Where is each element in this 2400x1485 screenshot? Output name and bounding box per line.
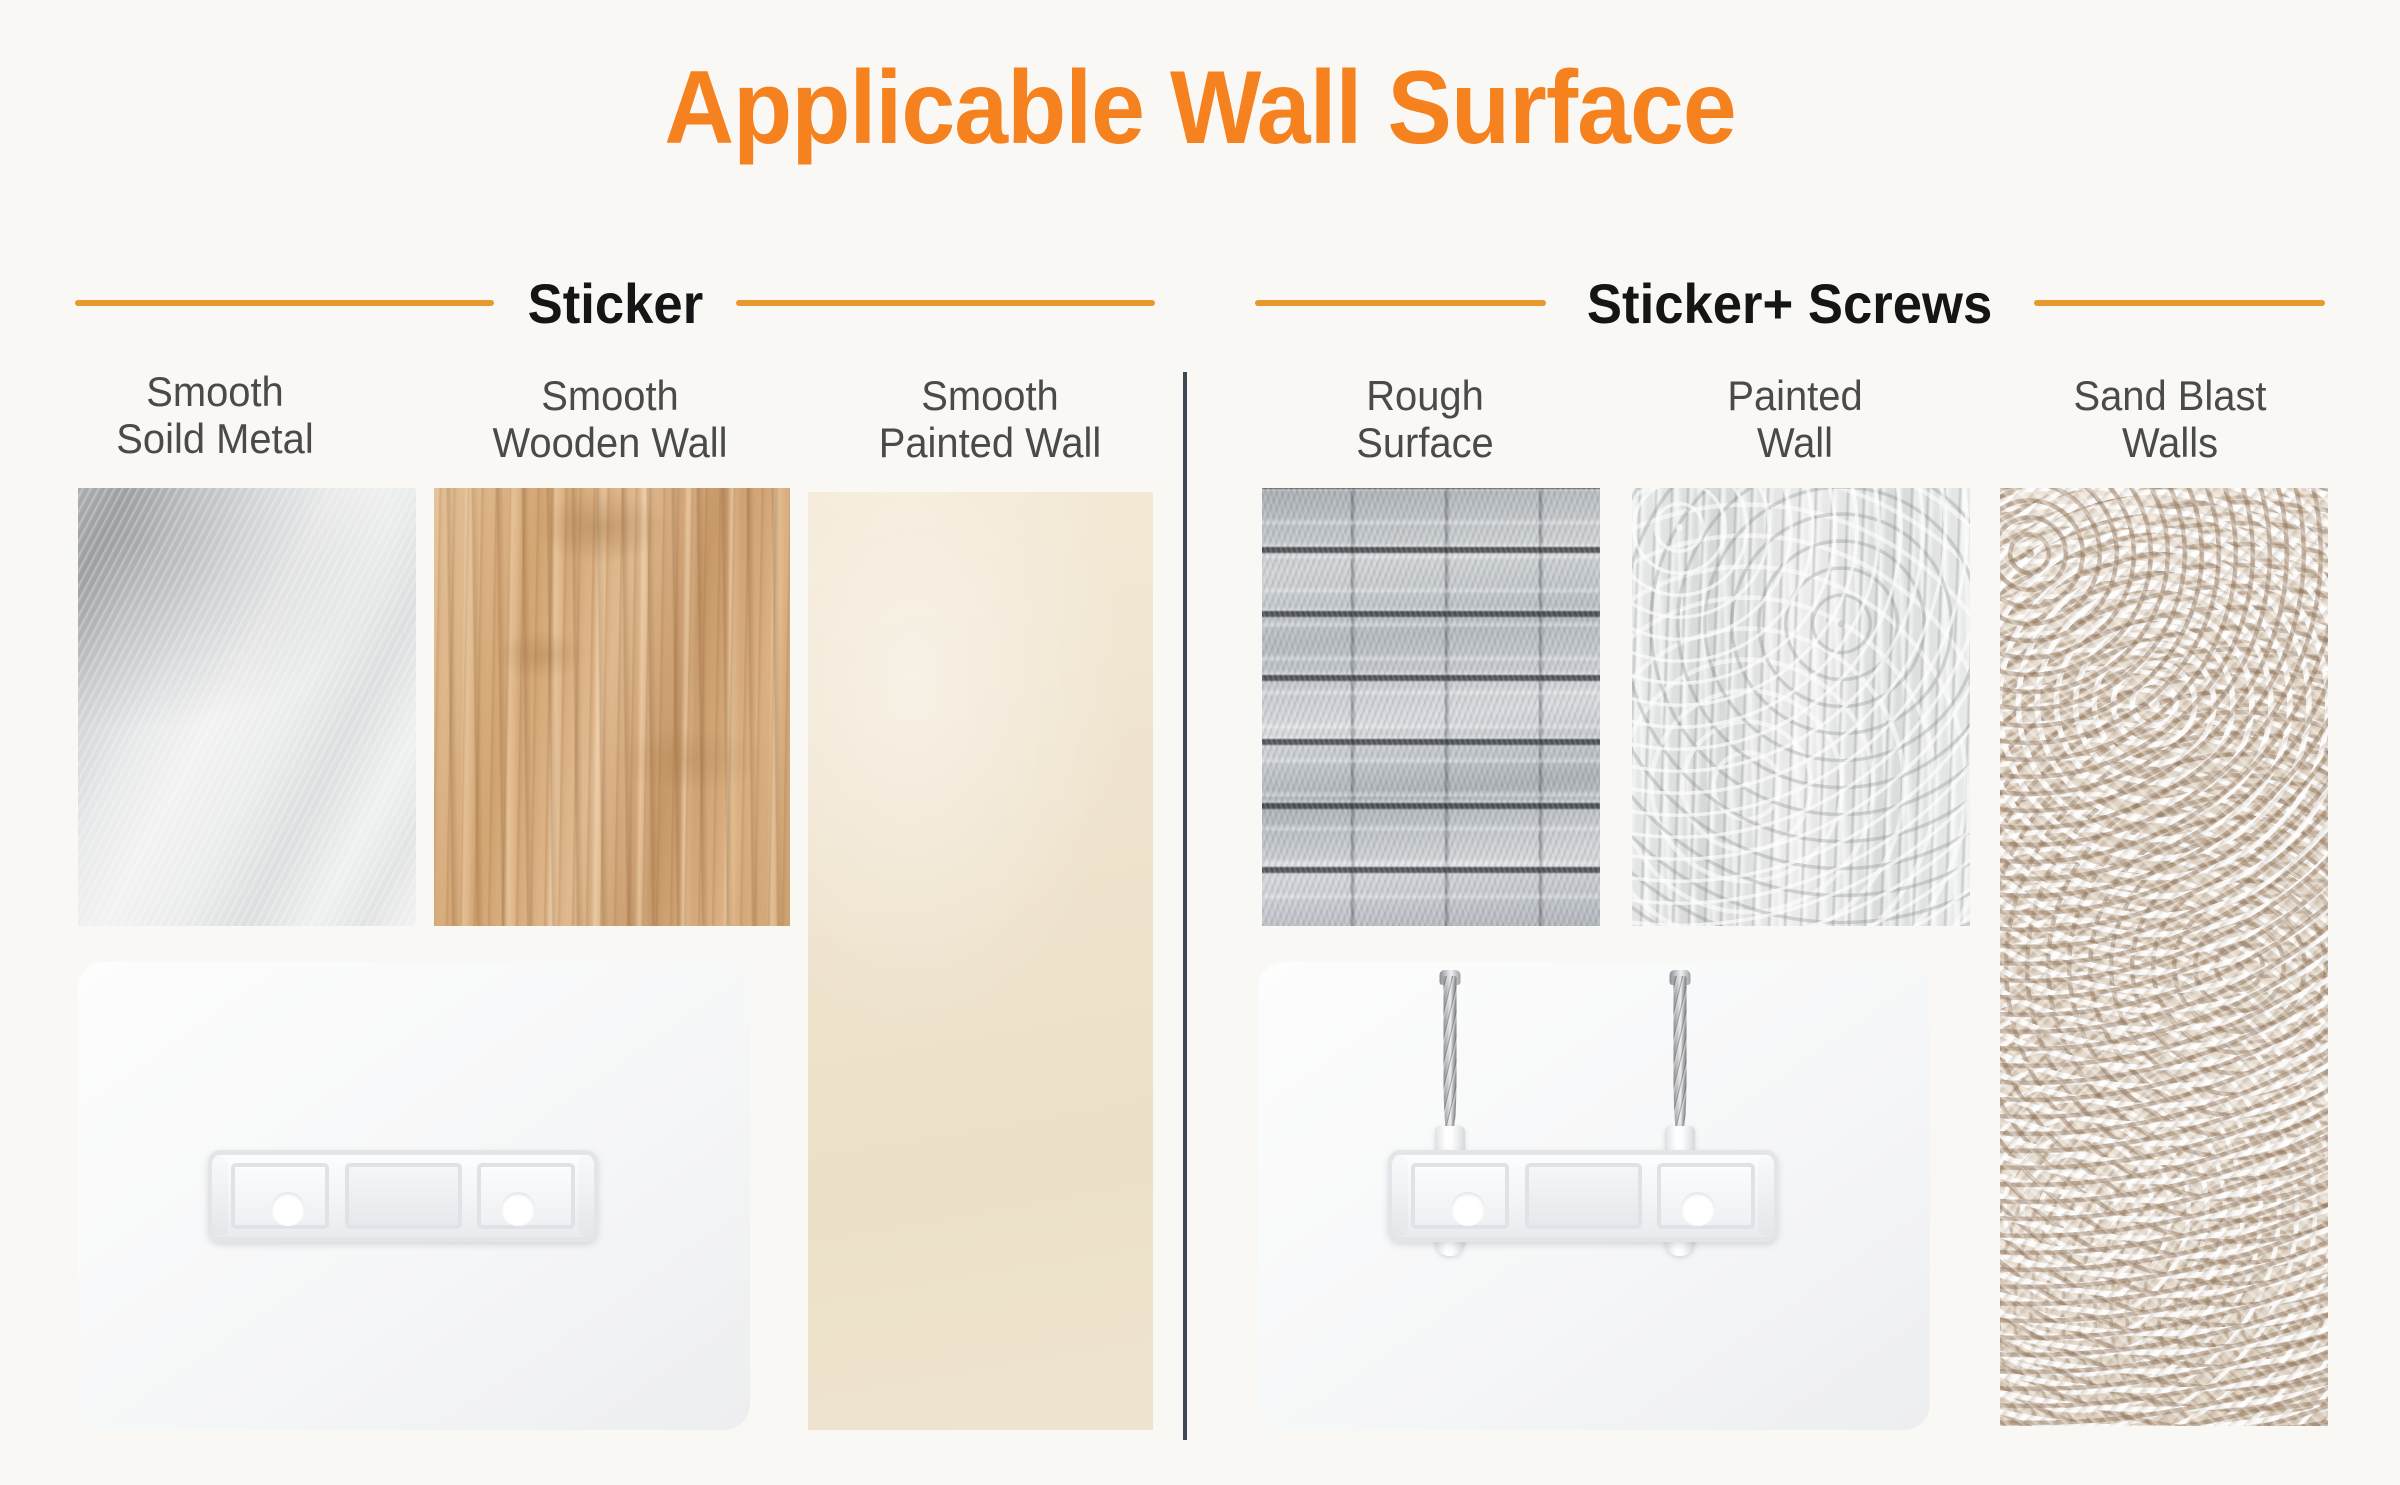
caption-smooth-wooden-wall: Smooth Wooden Wall [434,372,786,466]
screw-hole-right [501,1192,535,1226]
swatch-sand-blast-stucco [2000,488,2328,1426]
caption-sand-blast-walls: Sand Blast Walls [2004,372,2337,466]
rule-right [2034,300,2325,306]
screw-hole-left [271,1192,305,1226]
bracket-tab-right [578,1156,594,1237]
swatch-stacked-stone [1262,488,1600,926]
section-title-sticker-screws: Sticker+ Screws [1587,271,1992,336]
mounting-bracket [208,1150,598,1242]
bracket-pad-center [1525,1163,1642,1229]
caption-smooth-painted-wall: Smooth Painted Wall [814,372,1166,466]
screw-hole-right [1681,1192,1715,1226]
section-title-sticker: Sticker [527,271,703,336]
product-card-sticker-and-screws [1258,962,1930,1430]
bracket-pad-center [345,1163,462,1229]
bracket-tab-left [1392,1156,1408,1237]
screw-hole-left [1451,1192,1485,1226]
bracket-tab-right [1758,1156,1774,1237]
caption-rough-surface: Rough Surface [1264,372,1587,466]
screw-shaft-right [1674,976,1687,1142]
swatch-stippled-paint [1632,488,1970,926]
rule-left [75,300,494,306]
mounting-bracket [1388,1150,1778,1242]
caption-painted-wall: Painted Wall [1634,372,1957,466]
rule-right [736,300,1155,306]
product-card-sticker-only [78,962,750,1430]
swatch-smooth-cream-paint [808,492,1153,1430]
rule-left [1255,300,1546,306]
section-divider [1183,372,1187,1440]
section-header-sticker: Sticker [75,268,1155,338]
section-header-sticker-screws: Sticker+ Screws [1255,268,2325,338]
swatch-wood-grain [434,488,790,926]
caption-smooth-solid-metal: Smooth Soild Metal [44,368,386,462]
bracket-tab-left [212,1156,228,1237]
swatch-brushed-metal [78,488,416,926]
screw-shaft-left [1444,976,1457,1142]
page-title: Applicable Wall Surface [84,54,2316,163]
